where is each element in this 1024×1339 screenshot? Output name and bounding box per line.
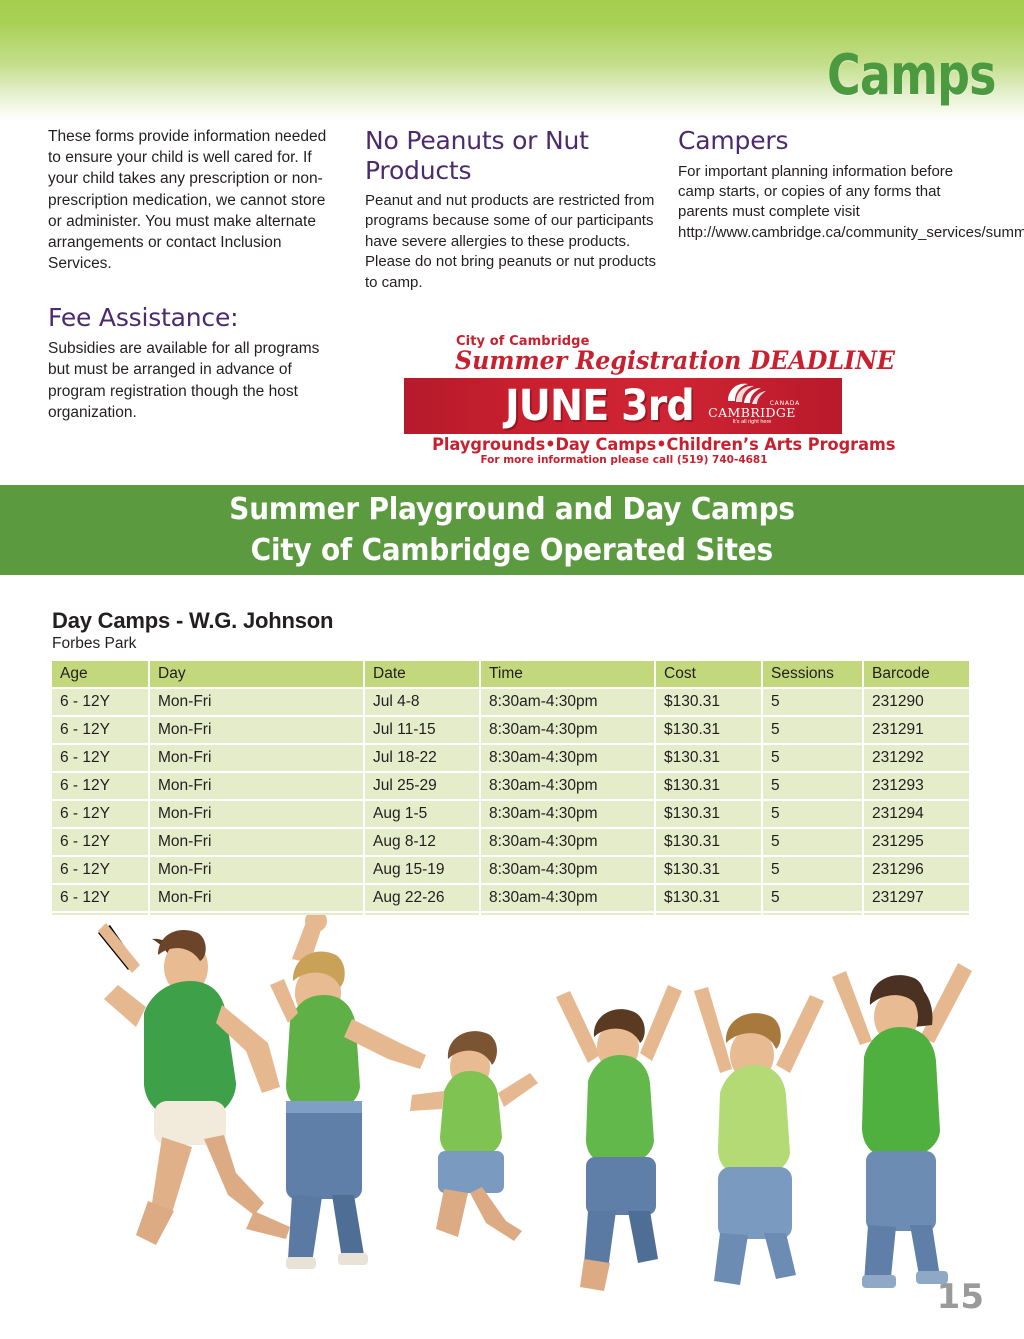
intro-column-left: These forms provide information needed t… bbox=[48, 126, 338, 423]
jumping-children-illustration bbox=[40, 915, 984, 1315]
table-cell: 231292 bbox=[863, 744, 970, 772]
column-header-age: Age bbox=[52, 661, 149, 688]
table-cell: 6 - 12Y bbox=[52, 716, 149, 744]
child-figure-5 bbox=[694, 987, 824, 1285]
campers-paragraph: For important planning information befor… bbox=[678, 162, 983, 244]
table-cell: Aug 22-26 bbox=[364, 884, 480, 912]
child-figure-3 bbox=[410, 1031, 538, 1241]
table-cell: 5 bbox=[762, 884, 863, 912]
no-peanuts-paragraph: Peanut and nut products are restricted f… bbox=[365, 191, 660, 293]
table-cell: Mon-Fri bbox=[149, 688, 364, 716]
section-banner-line-2: City of Cambridge Operated Sites bbox=[251, 530, 773, 571]
page-title: Camps bbox=[827, 48, 996, 104]
table-cell: 8:30am-4:30pm bbox=[480, 800, 655, 828]
forms-paragraph: These forms provide information needed t… bbox=[48, 126, 338, 275]
table-cell: 231291 bbox=[863, 716, 970, 744]
section-banner-line-1: Summer Playground and Day Camps bbox=[229, 489, 795, 530]
table-cell: $130.31 bbox=[655, 800, 762, 828]
table-cell: $130.31 bbox=[655, 688, 762, 716]
page-number: 15 bbox=[937, 1277, 984, 1317]
table-cell: 8:30am-4:30pm bbox=[480, 716, 655, 744]
column-header-barcode: Barcode bbox=[863, 661, 970, 688]
table-cell: 6 - 12Y bbox=[52, 828, 149, 856]
campers-heading: Campers bbox=[678, 126, 983, 156]
table-cell: 231295 bbox=[863, 828, 970, 856]
table-cell: Mon-Fri bbox=[149, 884, 364, 912]
table-cell: 5 bbox=[762, 772, 863, 800]
child-figure-1 bbox=[98, 923, 290, 1245]
logo-tagline: It’s all right here bbox=[698, 419, 806, 425]
column-header-sessions: Sessions bbox=[762, 661, 863, 688]
camp-schedule-table: AgeDayDateTimeCostSessionsBarcode 6 - 12… bbox=[52, 661, 971, 941]
table-cell: 5 bbox=[762, 800, 863, 828]
table-body: 6 - 12YMon-FriJul 4-88:30am-4:30pm$130.3… bbox=[52, 688, 970, 940]
cambridge-swirl-icon bbox=[724, 381, 768, 405]
table-row: 6 - 12YMon-FriAug 1-58:30am-4:30pm$130.3… bbox=[52, 800, 970, 828]
table-cell: 8:30am-4:30pm bbox=[480, 688, 655, 716]
table-cell: 231290 bbox=[863, 688, 970, 716]
ad-programs-line: Playgrounds•Day Camps•Children’s Arts Pr… bbox=[432, 435, 816, 455]
table-cell: Jul 25-29 bbox=[364, 772, 480, 800]
ad-phone-line: For more information please call (519) 7… bbox=[422, 454, 826, 466]
table-cell: 8:30am-4:30pm bbox=[480, 884, 655, 912]
column-header-day: Day bbox=[149, 661, 364, 688]
table-cell: Mon-Fri bbox=[149, 716, 364, 744]
table-cell: Aug 1-5 bbox=[364, 800, 480, 828]
table-cell: Mon-Fri bbox=[149, 856, 364, 884]
fee-assistance-paragraph: Subsidies are available for all programs… bbox=[48, 338, 338, 423]
table-row: 6 - 12YMon-FriAug 15-198:30am-4:30pm$130… bbox=[52, 856, 970, 884]
table-row: 6 - 12YMon-FriAug 22-268:30am-4:30pm$130… bbox=[52, 884, 970, 912]
logo-wordmark: CAMBRIDGE bbox=[698, 405, 806, 420]
table-cell: $130.31 bbox=[655, 716, 762, 744]
table-cell: 8:30am-4:30pm bbox=[480, 744, 655, 772]
table-row: 6 - 12YMon-FriAug 8-128:30am-4:30pm$130.… bbox=[52, 828, 970, 856]
schedule-subtitle: Forbes Park bbox=[52, 635, 972, 653]
table-head: AgeDayDateTimeCostSessionsBarcode bbox=[52, 661, 970, 688]
intro-column-right: Campers For important planning informati… bbox=[678, 126, 983, 243]
table-cell: Aug 8-12 bbox=[364, 828, 480, 856]
table-cell: Mon-Fri bbox=[149, 744, 364, 772]
table-cell: 8:30am-4:30pm bbox=[480, 856, 655, 884]
table-header-row: AgeDayDateTimeCostSessionsBarcode bbox=[52, 661, 970, 688]
jumping-children-photo bbox=[40, 915, 984, 1315]
table-cell: 8:30am-4:30pm bbox=[480, 828, 655, 856]
column-header-date: Date bbox=[364, 661, 480, 688]
table-cell: 5 bbox=[762, 856, 863, 884]
table-cell: 6 - 12Y bbox=[52, 856, 149, 884]
table-cell: 6 - 12Y bbox=[52, 744, 149, 772]
table-cell: $130.31 bbox=[655, 884, 762, 912]
section-banner: Summer Playground and Day Camps City of … bbox=[0, 485, 1024, 575]
table-cell: 5 bbox=[762, 744, 863, 772]
table-cell: $130.31 bbox=[655, 772, 762, 800]
table-cell: Jul 4-8 bbox=[364, 688, 480, 716]
table-cell: 231296 bbox=[863, 856, 970, 884]
table-cell: 5 bbox=[762, 828, 863, 856]
fee-assistance-heading: Fee Assistance: bbox=[48, 303, 338, 333]
table-cell: 231294 bbox=[863, 800, 970, 828]
table-row: 6 - 12YMon-FriJul 11-158:30am-4:30pm$130… bbox=[52, 716, 970, 744]
column-header-time: Time bbox=[480, 661, 655, 688]
child-figure-6 bbox=[832, 963, 972, 1288]
ad-headline: Summer Registration DEADLINE bbox=[455, 346, 895, 375]
table-cell: Mon-Fri bbox=[149, 828, 364, 856]
table-cell: $130.31 bbox=[655, 828, 762, 856]
table-cell: 6 - 12Y bbox=[52, 884, 149, 912]
table-cell: 6 - 12Y bbox=[52, 688, 149, 716]
schedule-title: Day Camps - W.G. Johnson bbox=[52, 608, 972, 634]
table-row: 6 - 12YMon-FriJul 25-298:30am-4:30pm$130… bbox=[52, 772, 970, 800]
table-cell: 8:30am-4:30pm bbox=[480, 772, 655, 800]
registration-deadline-ad: City of Cambridge Summer Registration DE… bbox=[400, 332, 846, 468]
intro-column-middle: No Peanuts or Nut Products Peanut and nu… bbox=[365, 126, 660, 293]
child-figure-4 bbox=[556, 985, 682, 1291]
table-cell: Aug 15-19 bbox=[364, 856, 480, 884]
child-figure-2 bbox=[270, 915, 426, 1269]
table-cell: Jul 11-15 bbox=[364, 716, 480, 744]
table-cell: 6 - 12Y bbox=[52, 800, 149, 828]
ad-deadline-date: JUNE 3rd bbox=[505, 378, 694, 434]
table-cell: 231297 bbox=[863, 884, 970, 912]
table-cell: 5 bbox=[762, 688, 863, 716]
table-cell: Mon-Fri bbox=[149, 772, 364, 800]
table-cell: 5 bbox=[762, 716, 863, 744]
table-cell: $130.31 bbox=[655, 744, 762, 772]
schedule-section: Day Camps - W.G. Johnson Forbes Park Age… bbox=[52, 608, 972, 941]
cambridge-logo: CANADA CAMBRIDGE It’s all right here bbox=[698, 380, 806, 432]
table-cell: Mon-Fri bbox=[149, 800, 364, 828]
table-row: 6 - 12YMon-FriJul 4-88:30am-4:30pm$130.3… bbox=[52, 688, 970, 716]
table-cell: $130.31 bbox=[655, 856, 762, 884]
no-peanuts-heading: No Peanuts or Nut Products bbox=[365, 126, 660, 185]
table-cell: 6 - 12Y bbox=[52, 772, 149, 800]
column-header-cost: Cost bbox=[655, 661, 762, 688]
table-row: 6 - 12YMon-FriJul 18-228:30am-4:30pm$130… bbox=[52, 744, 970, 772]
table-cell: Jul 18-22 bbox=[364, 744, 480, 772]
table-cell: 231293 bbox=[863, 772, 970, 800]
